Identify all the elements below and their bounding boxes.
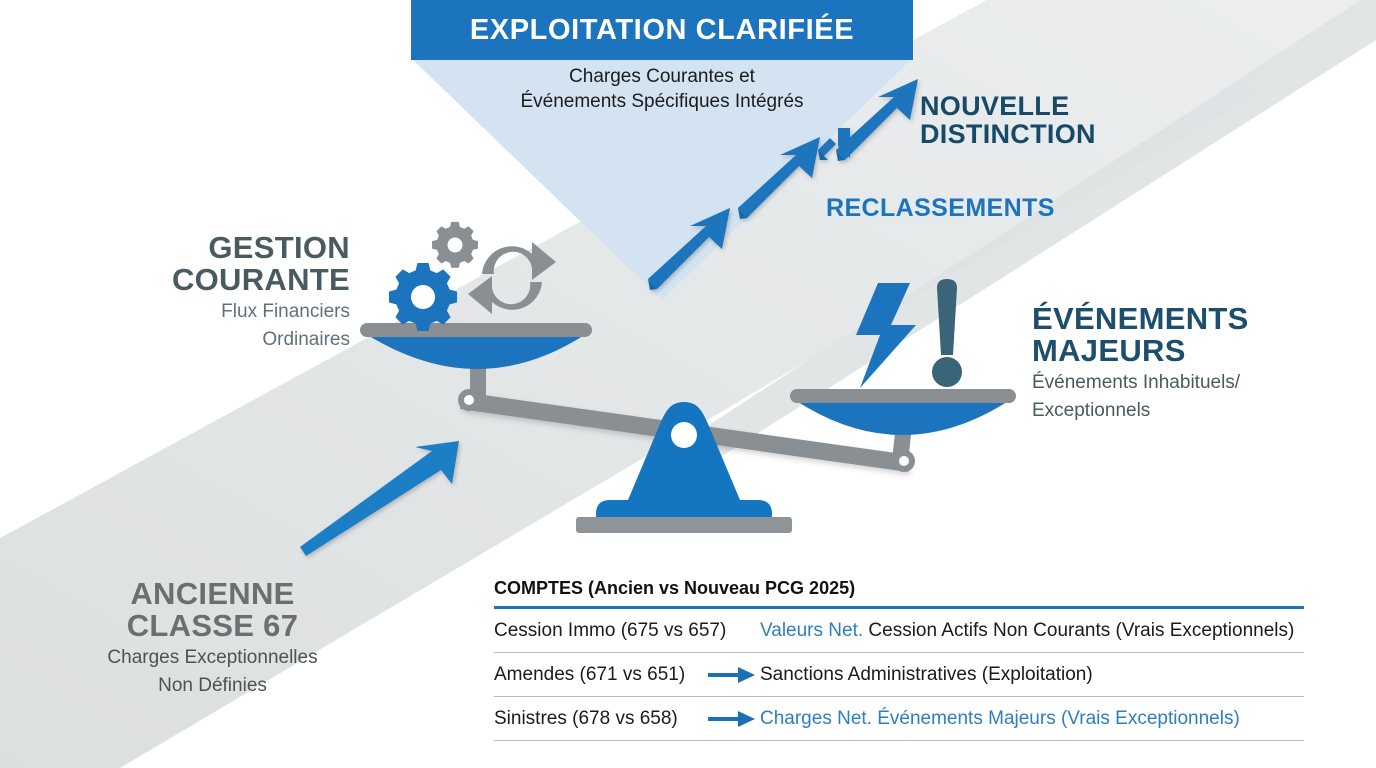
arrow-right-icon: [708, 710, 756, 728]
gear-icon: [389, 263, 457, 331]
banner-title: EXPLOITATION CLARIFIÉE: [470, 14, 854, 47]
banner-left-notch: [360, 0, 411, 60]
gestion-title-line1: GESTION: [0, 232, 350, 264]
banner-subtitle: Charges Courantes et Événements Spécifiq…: [411, 64, 913, 114]
label-ancienne-classe-67: ANCIENNE CLASSE 67 Charges Exceptionnell…: [40, 578, 385, 697]
ancienne-sub-line2: Non Définies: [40, 675, 385, 697]
table-row: Cession Immo (675 vs 657)Valeurs Net. Ce…: [494, 609, 1304, 653]
banner-subtitle-line1: Charges Courantes et: [411, 64, 913, 89]
label-nouvelle-distinction: NOUVELLE DISTINCTION: [920, 92, 1180, 148]
gestion-sub-line1: Flux Financiers: [0, 301, 350, 323]
evenements-sub-line1: Événements Inhabituels/: [1032, 372, 1372, 394]
label-reclassements: RECLASSEMENTS: [826, 194, 1055, 223]
table-cell-old-account: Amendes (671 vs 651): [494, 664, 704, 686]
table-cell-new-emphasis: Valeurs Net.: [760, 620, 863, 641]
table-cell-new-text: Cession Actifs Non Courants (Vrais Excep…: [863, 620, 1294, 641]
gestion-title-line2: COURANTE: [0, 264, 350, 296]
ancienne-title-line2: CLASSE 67: [40, 610, 385, 642]
infographic-canvas: EXPLOITATION CLARIFIÉE Charges Courantes…: [0, 0, 1376, 768]
label-gestion-courante: GESTION COURANTE Flux Financiers Ordinai…: [0, 232, 350, 351]
ancienne-sub-line1: Charges Exceptionnelles: [40, 647, 385, 669]
ancienne-title-line1: ANCIENNE: [40, 578, 385, 610]
table-cell-old-account: Sinistres (678 vs 658): [494, 708, 704, 730]
label-evenements-majeurs: ÉVÉNEMENTS MAJEURS Événements Inhabituel…: [1032, 303, 1372, 422]
banner: EXPLOITATION CLARIFIÉE: [411, 0, 913, 60]
table-row: Amendes (671 vs 651)Sanctions Administra…: [494, 653, 1304, 697]
table-cell-arrow: [704, 666, 760, 684]
table-header: COMPTES (Ancien vs Nouveau PCG 2025): [494, 578, 1304, 606]
table-cell-new-account: Charges Net. Événements Majeurs (Vrais E…: [760, 708, 1304, 730]
comptes-table: COMPTES (Ancien vs Nouveau PCG 2025) Ces…: [494, 578, 1304, 741]
gear-small-icon: [432, 222, 478, 268]
table-cell-new-text: Sanctions Administratives (Exploitation): [760, 664, 1093, 685]
gestion-sub-line2: Ordinaires: [0, 329, 350, 351]
table-row: Sinistres (678 vs 658)Charges Net. Événe…: [494, 697, 1304, 741]
evenements-sub-line2: Exceptionnels: [1032, 400, 1372, 422]
table-body: Cession Immo (675 vs 657)Valeurs Net. Ce…: [494, 609, 1304, 741]
banner-subtitle-line2: Événements Spécifiques Intégrés: [411, 89, 913, 114]
table-cell-arrow: [704, 710, 760, 728]
table-cell-new-account: Valeurs Net. Cession Actifs Non Courants…: [760, 620, 1304, 642]
evenements-title-line1: ÉVÉNEMENTS: [1032, 303, 1372, 335]
table-cell-new-account: Sanctions Administratives (Exploitation): [760, 664, 1304, 686]
right-pan: [790, 389, 1016, 435]
evenements-title-line2: MAJEURS: [1032, 335, 1372, 367]
arrow-right-icon: [708, 666, 756, 684]
table-cell-old-account: Cession Immo (675 vs 657): [494, 620, 704, 642]
nouvelle-title-line1: NOUVELLE: [920, 92, 1180, 120]
nouvelle-title-line2: DISTINCTION: [920, 120, 1180, 148]
table-cell-new-text: Charges Net. Événements Majeurs (Vrais E…: [760, 708, 1240, 729]
